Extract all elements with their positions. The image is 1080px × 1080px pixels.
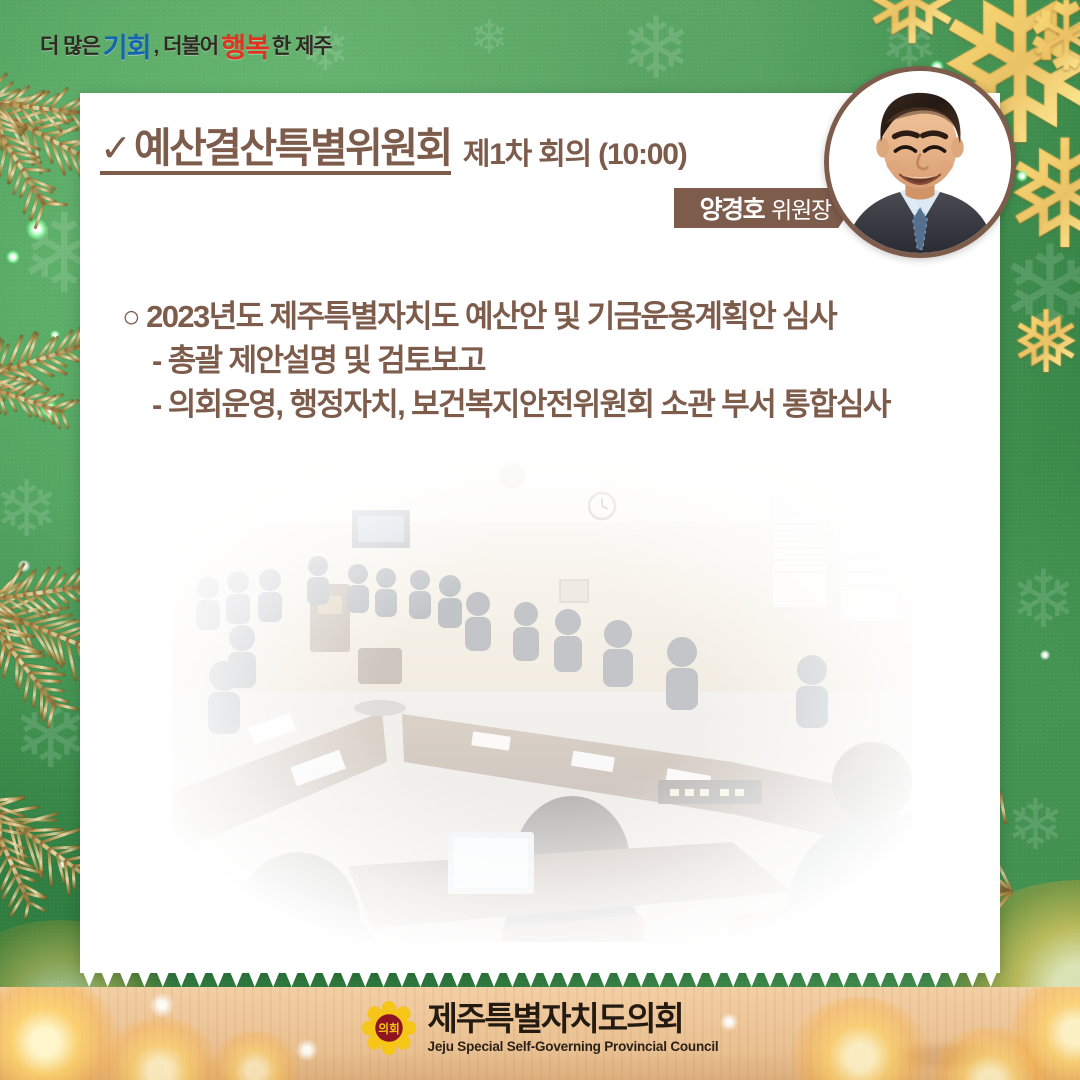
council-emblem-icon: 의회	[362, 1001, 416, 1055]
slogan-part-2: , 더불어	[153, 30, 218, 60]
council-logo: 의회 제주특별자치도의회 Jeju Special Self-Governing…	[0, 1001, 1080, 1055]
council-name-en: Jeju Special Self-Governing Provincial C…	[428, 1039, 719, 1054]
meeting-photo	[172, 462, 912, 942]
agenda-line: ○ 2023년도 제주특별자치도 예산안 및 기금운용계획안 심사	[122, 295, 982, 339]
council-name-block: 제주특별자치도의회 Jeju Special Self-Governing Pr…	[428, 1002, 719, 1054]
agenda-line: - 의회운영, 행정자치, 보건복지안전위원회 소관 부서 통합심사	[122, 383, 982, 427]
emblem-label: 의회	[378, 1022, 400, 1036]
slogan-part-highlight-happiness: 행복	[221, 26, 269, 65]
agenda-line: - 총괄 제안설명 및 검토보고	[122, 339, 982, 383]
photo-fade-vignette	[172, 462, 912, 942]
committee-title: 예산결산특별위원회	[134, 128, 451, 169]
footer-bar: 의회 제주특별자치도의회 Jeju Special Self-Governing…	[0, 987, 1080, 1080]
check-icon: ✓	[100, 132, 132, 166]
slogan-part-highlight-opportunity: 기회	[103, 26, 151, 65]
slogan-part-1: 더 많은	[40, 30, 100, 60]
chairperson-name: 양경호	[700, 190, 765, 226]
header-block: ✓ 예산결산특별위원회 제1차 회의 (10:00) 양경호 위원장	[100, 128, 860, 175]
agenda-list: ○ 2023년도 제주특별자치도 예산안 및 기금운용계획안 심사 - 총괄 제…	[122, 295, 982, 427]
title-underline-group: ✓ 예산결산특별위원회	[100, 128, 451, 175]
jeju-slogan-logo: 더 많은 기회 , 더불어 행복 한 제주	[40, 24, 332, 66]
poster-canvas: ❄ ❄ ❄ ❄ ❄ ❄ ❄ ❄ ❄ ❄ ❅ ❅ ❅ ❆ ❅ 더 많은 기회 , …	[0, 0, 1080, 1080]
chairperson-portrait	[824, 66, 1016, 258]
title-row: ✓ 예산결산특별위원회 제1차 회의 (10:00)	[100, 128, 860, 175]
portrait-illustration	[829, 71, 1011, 253]
session-subtitle: 제1차 회의 (10:00)	[463, 140, 687, 175]
council-name-ko: 제주특별자치도의회	[428, 1002, 683, 1037]
slogan-part-3: 한 제주	[272, 30, 332, 60]
